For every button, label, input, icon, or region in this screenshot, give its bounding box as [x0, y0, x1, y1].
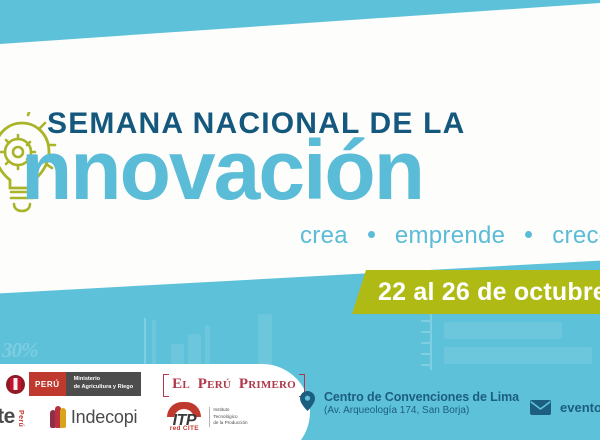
envelope-icon	[530, 400, 551, 415]
watermark-tick	[421, 342, 430, 344]
watermark-tick	[421, 331, 430, 333]
sponsor-row-1: PERÚ Ministerio de Agricultura y Riego E…	[6, 372, 305, 396]
watermark-tick	[421, 320, 430, 322]
contact-email[interactable]: eventos	[560, 400, 600, 415]
pp-e: E	[172, 376, 182, 392]
venue-address: (Av. Arqueología 174, San Borja)	[324, 405, 519, 416]
watermark-tick	[421, 353, 430, 355]
bullet-dot-icon	[368, 231, 375, 238]
watermark-axis	[430, 314, 432, 370]
watermark-bar	[258, 314, 272, 368]
ministry-line-1: Ministerio	[74, 376, 133, 384]
itp-side-1: Instituto	[213, 407, 229, 412]
watermark-bar	[188, 334, 201, 368]
tagline-word-emprende: emprende	[395, 222, 505, 249]
peru-label: PERÚ	[29, 372, 66, 396]
pp-p1: P	[198, 376, 207, 392]
sponsor-row-2: ate Perú Indecopi ITP red CITE Instituto…	[0, 402, 248, 432]
tagline-word-crea: crea	[300, 222, 348, 249]
innovate-peru-suffix: Perú	[17, 410, 24, 427]
logo-innovate-peru: ate Perú	[0, 405, 24, 429]
innovate-text: ate	[0, 405, 15, 429]
indecopi-text: Indecopi	[71, 407, 137, 428]
pp-l: L	[182, 379, 190, 391]
poster-canvas: 30%	[0, 0, 600, 440]
pp-eru: ERÚ	[207, 379, 231, 391]
itp-side-2: Tecnológico	[213, 414, 237, 419]
venue-info: Centro de Convenciones de Lima (Av. Arqu…	[300, 390, 519, 416]
contact-info[interactable]: eventos	[530, 400, 600, 415]
itp-subtext: red CITE	[163, 425, 205, 432]
watermark-bar	[152, 320, 156, 368]
bullet-dot-icon	[525, 231, 532, 238]
indecopi-mark-icon	[50, 406, 66, 428]
pp-p2: P	[239, 376, 248, 392]
watermark-tick	[421, 364, 430, 366]
watermark-axis	[144, 318, 146, 368]
itp-side-3: de la Producción	[213, 420, 247, 425]
venue-name: Centro de Convenciones de Lima	[324, 390, 519, 404]
bracket-left-icon	[163, 374, 169, 397]
itp-mark-icon: ITP red CITE	[163, 402, 205, 432]
peru-coat-of-arms-icon	[6, 375, 25, 394]
watermark-percent-label: 30%	[2, 338, 38, 363]
watermark-bar	[205, 325, 210, 368]
date-ribbon: 22 al 26 de octubre	[352, 270, 600, 314]
pp-rimero: RIMERO	[248, 379, 296, 391]
logo-itp-red-cite: ITP red CITE Instituto Tecnológico de la…	[163, 402, 247, 432]
tagline: crea emprende crece	[300, 222, 600, 250]
watermark-bar	[444, 347, 592, 364]
page-title-main: nnovación	[21, 128, 423, 212]
logo-el-peru-primero: EL PERÚ PRIMERO	[163, 374, 305, 395]
ministry-label: Ministerio de Agricultura y Riego	[66, 372, 141, 396]
logo-minagri: PERÚ Ministerio de Agricultura y Riego	[6, 372, 141, 396]
ministry-line-2: de Agricultura y Riego	[74, 384, 133, 392]
venue-text: Centro de Convenciones de Lima (Av. Arqu…	[324, 390, 519, 416]
date-ribbon-text: 22 al 26 de octubre	[378, 278, 600, 307]
itp-side-text: Instituto Tecnológico de la Producción	[209, 407, 247, 428]
watermark-bar	[444, 322, 562, 339]
location-pin-icon	[300, 391, 315, 411]
logo-indecopi: Indecopi	[50, 406, 137, 428]
tagline-word-crece: crece	[552, 222, 600, 249]
